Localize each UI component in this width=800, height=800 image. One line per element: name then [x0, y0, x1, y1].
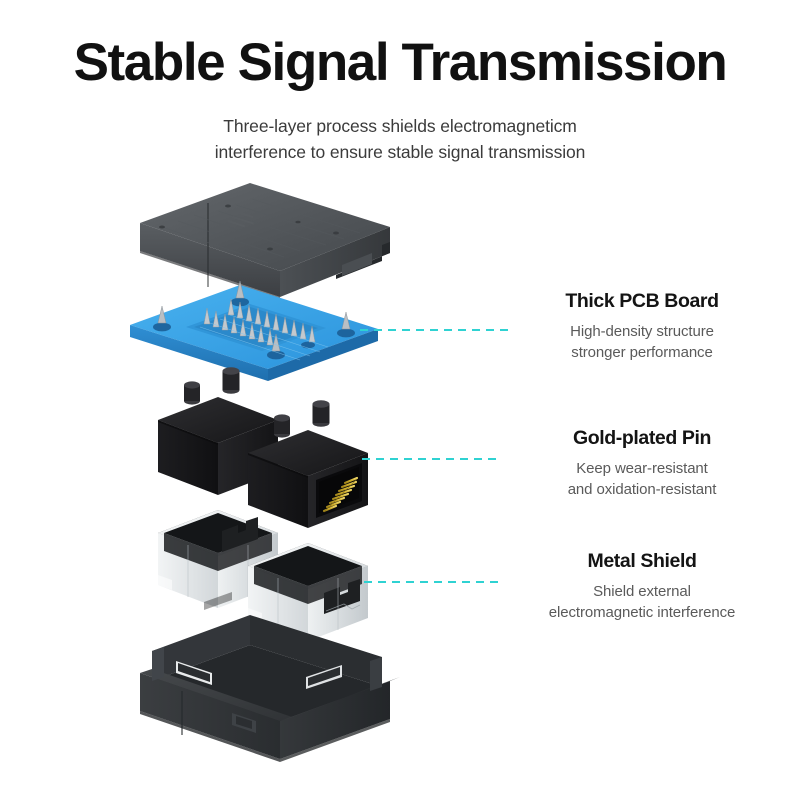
subtitle-line-1: Three-layer process shields electromagne…	[0, 113, 800, 139]
callout-description-shield: Shield external electromagnetic interfer…	[492, 581, 792, 623]
page-subtitle: Three-layer process shields electromagne…	[0, 113, 800, 165]
callout-description-pin: Keep wear-resistant and oxidation-resist…	[492, 458, 792, 500]
callout-desc-pin-line-2: and oxidation-resistant	[492, 479, 792, 500]
callout-desc-shield-line-2: electromagnetic interference	[492, 602, 792, 623]
callout-thick-pcb-board: Thick PCB Board High-density structure s…	[492, 288, 792, 363]
leader-line-shield	[364, 581, 502, 583]
callout-heading-pcb: Thick PCB Board	[492, 288, 792, 314]
leader-line-pcb	[360, 329, 508, 331]
jack-post-left-a	[184, 381, 200, 404]
callout-heading-shield: Metal Shield	[492, 548, 792, 574]
jack-post-right-b	[313, 400, 330, 427]
layer-bottom-housing	[140, 605, 400, 762]
layer-pcb-board	[130, 281, 378, 381]
layer-rj45-jack	[158, 367, 368, 528]
subtitle-line-2: interference to ensure stable signal tra…	[0, 139, 800, 165]
callout-gold-plated-pin: Gold-plated Pin Keep wear-resistant and …	[492, 425, 792, 500]
callout-description-pcb: High-density structure stronger performa…	[492, 321, 792, 363]
layer-top-housing	[140, 183, 390, 299]
callout-desc-shield-line-1: Shield external	[492, 581, 792, 602]
callout-desc-pcb-line-2: stronger performance	[492, 342, 792, 363]
callout-desc-pcb-line-1: High-density structure	[492, 321, 792, 342]
jack-post-left-b	[223, 367, 240, 394]
callout-heading-pin: Gold-plated Pin	[492, 425, 792, 451]
page-title: Stable Signal Transmission	[0, 32, 800, 94]
callout-desc-pin-line-1: Keep wear-resistant	[492, 458, 792, 479]
exploded-view-illustration	[100, 175, 430, 760]
leader-line-pin	[362, 458, 502, 460]
callout-metal-shield: Metal Shield Shield external electromagn…	[492, 548, 792, 623]
infographic-page: Stable Signal Transmission Three-layer p…	[0, 0, 800, 800]
jack-post-right-a	[274, 414, 290, 437]
